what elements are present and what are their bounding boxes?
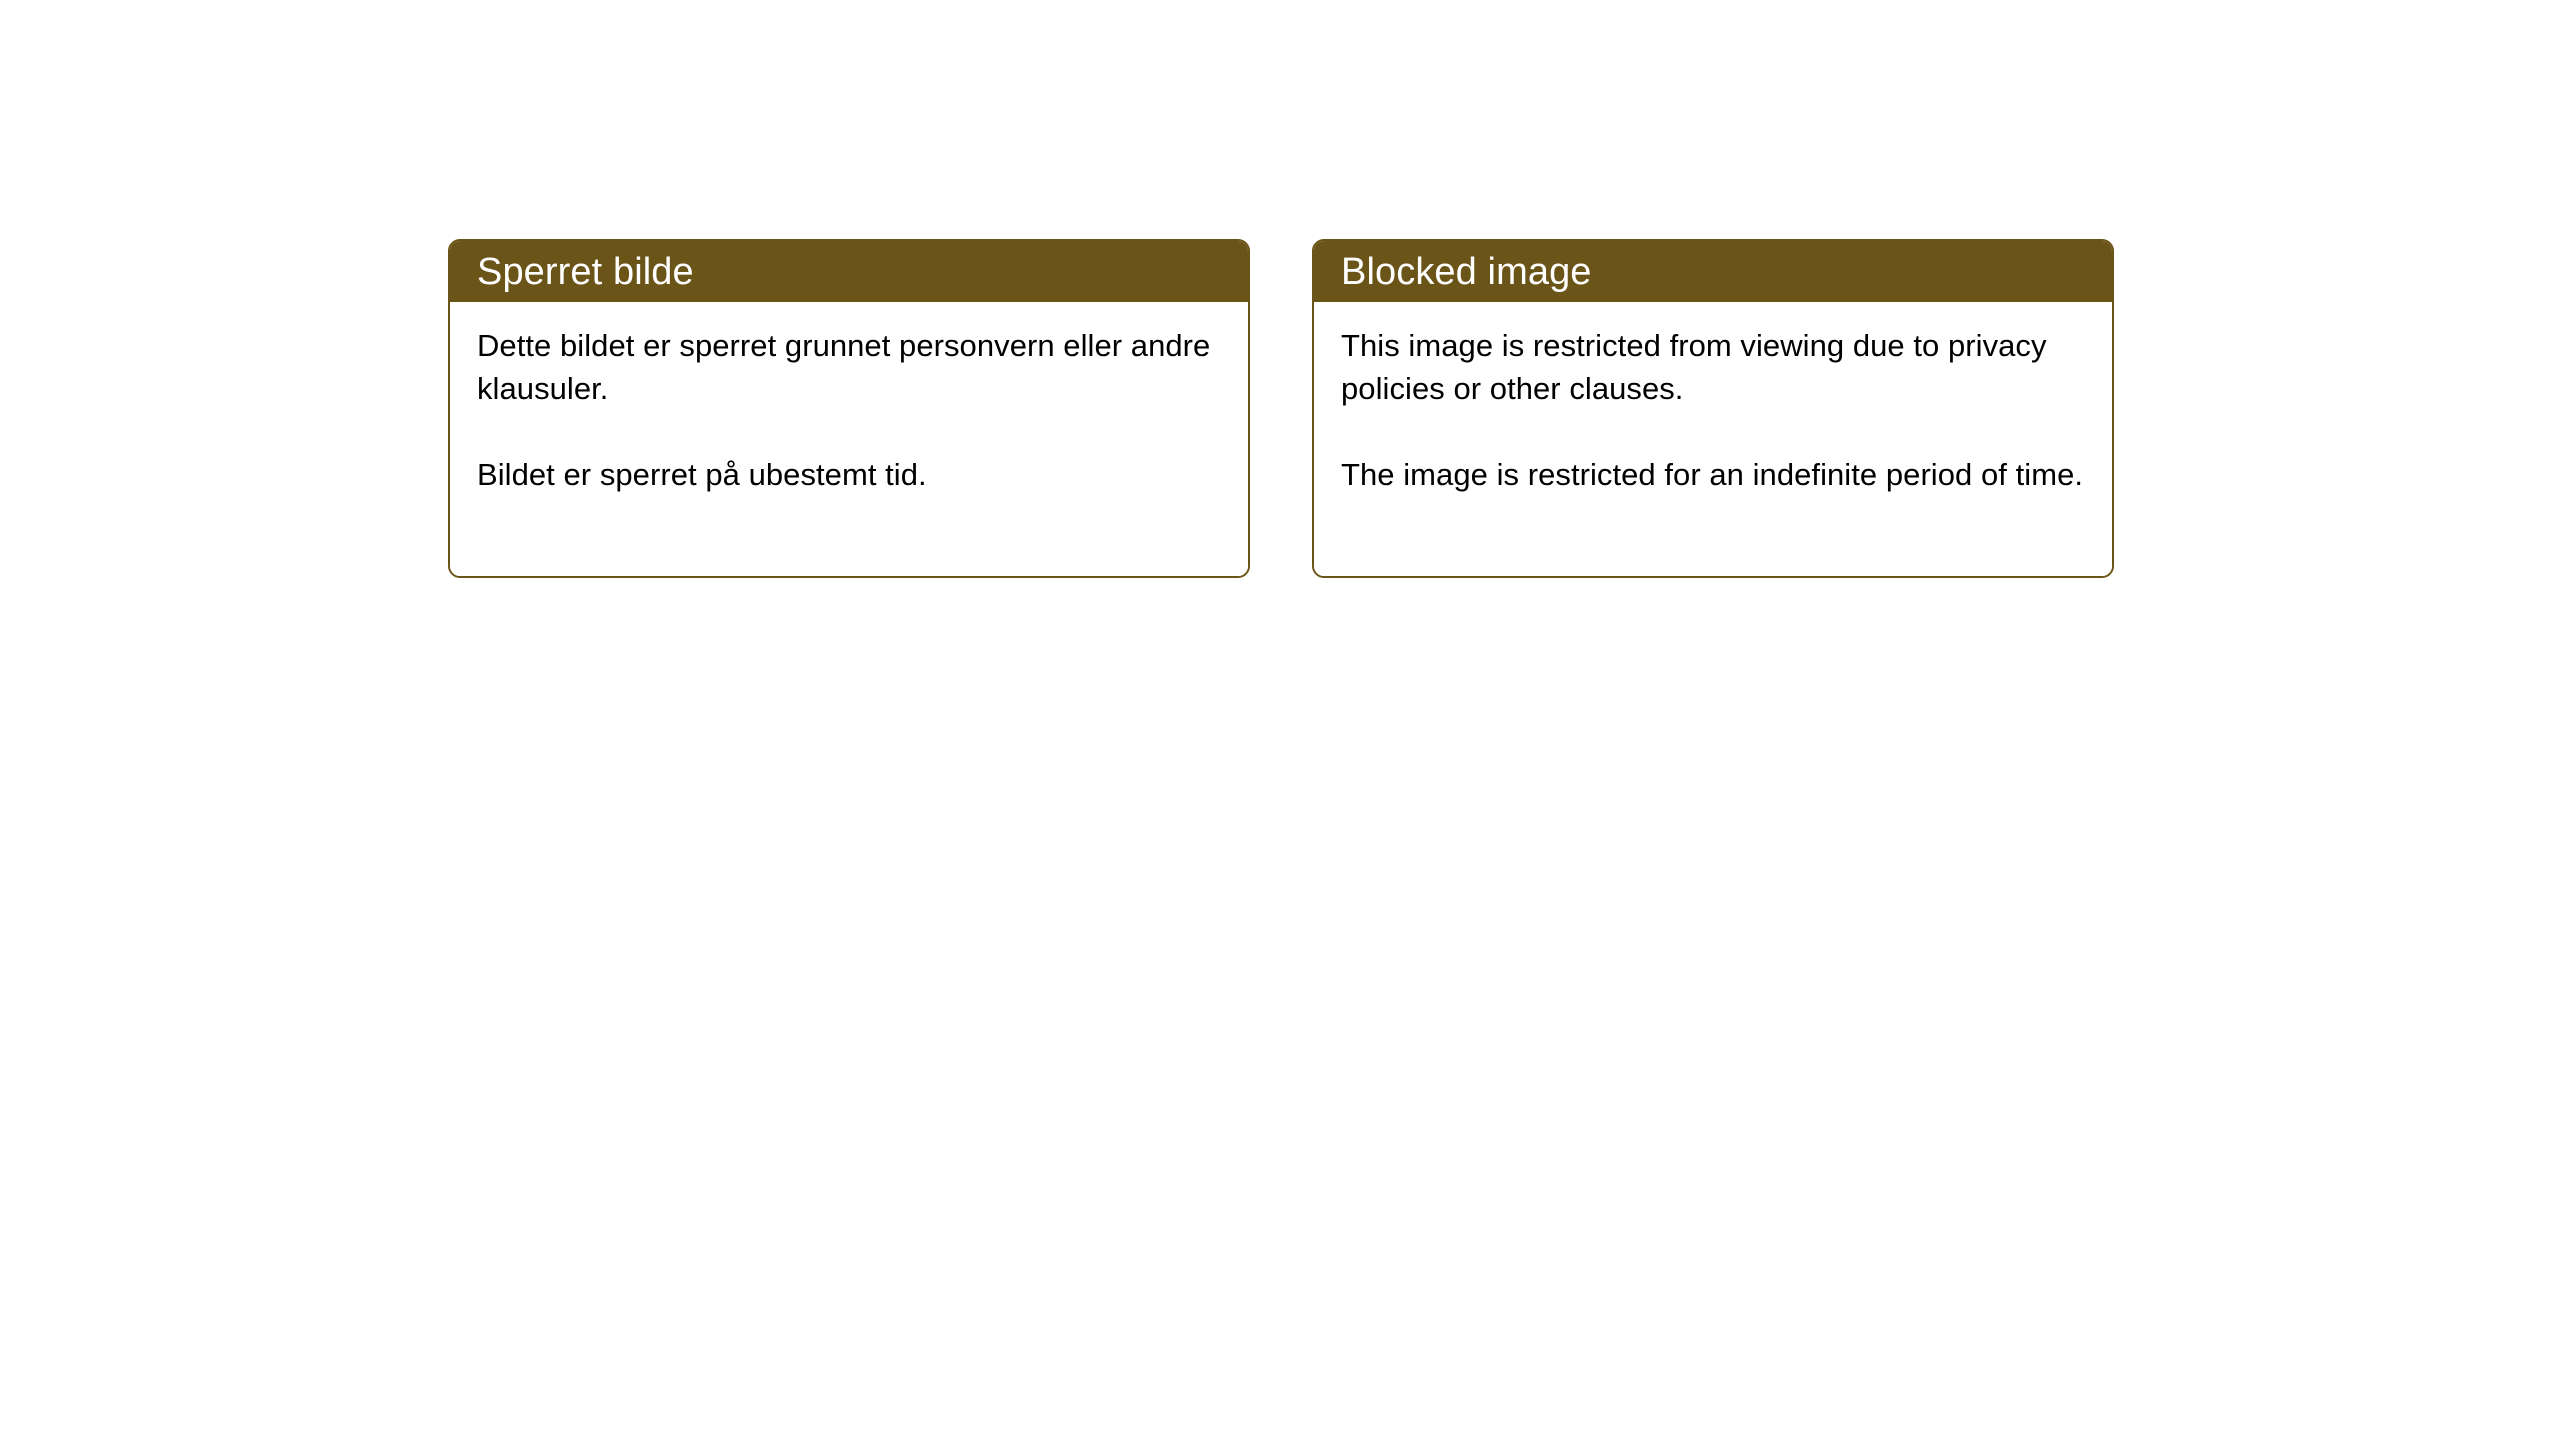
card-body-norwegian: Dette bildet er sperret grunnet personve… [450,302,1248,576]
blocked-image-notice-card-english: Blocked image This image is restricted f… [1312,239,2114,578]
page-canvas: Sperret bilde Dette bildet er sperret gr… [0,0,2560,1440]
card-header-norwegian: Sperret bilde [450,241,1248,302]
blocked-image-notice-card-norwegian: Sperret bilde Dette bildet er sperret gr… [448,239,1250,578]
card-paragraph-reason-english: This image is restricted from viewing du… [1341,324,2086,410]
card-title-english: Blocked image [1341,253,1592,291]
card-paragraph-duration-norwegian: Bildet er sperret på ubestemt tid. [477,453,1222,496]
card-header-english: Blocked image [1314,241,2112,302]
card-paragraph-reason-norwegian: Dette bildet er sperret grunnet personve… [477,324,1222,410]
card-body-english: This image is restricted from viewing du… [1314,302,2112,576]
card-title-norwegian: Sperret bilde [477,253,694,291]
card-paragraph-duration-english: The image is restricted for an indefinit… [1341,453,2086,496]
